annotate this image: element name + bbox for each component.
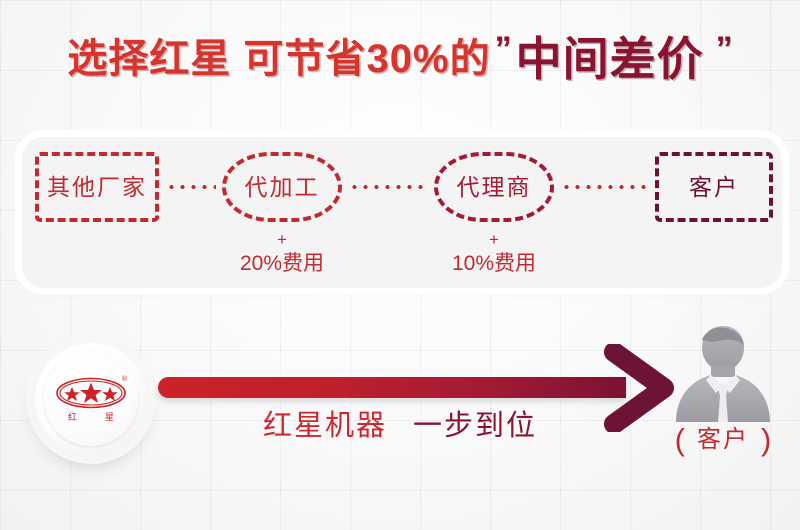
headline: 选择红星 可节省30%的 ” 中间差价 ” (0, 28, 800, 90)
headline-part1: 选择红星 可节省30%的 (67, 39, 490, 79)
flow-connector-dots-1 (166, 185, 216, 189)
flow-connector-dots-3 (561, 185, 648, 189)
fee-amount: 20%费用 (202, 251, 362, 277)
three-stars-oval-icon (55, 376, 127, 410)
flow-node-label: 代加工 (245, 176, 320, 199)
hongxing-logo-badge: ® 红 星 (35, 343, 147, 455)
headline-part2: 中间差价 (516, 36, 704, 82)
flow-node-label: 代理商 (457, 176, 532, 199)
bottom-slogan: 红星机器 一步到位 (200, 412, 600, 441)
arrow-shaft (158, 377, 626, 398)
quote-close-mark: ” (716, 32, 733, 66)
flow-node-customer: 客户 (655, 152, 773, 222)
fee-plus-sign: + (202, 229, 362, 250)
logo-char-xing: 星 (105, 413, 114, 422)
registered-trademark-icon: ® (122, 376, 127, 383)
fee-amount: 10%费用 (414, 251, 574, 277)
customer-tag: ( 客户 ) (640, 424, 800, 455)
flow-connector-dots-2 (349, 185, 427, 189)
poster-canvas: 选择红星 可节省30%的 ” 中间差价 ” 其他厂家 代加工 + 20%费用 代… (0, 0, 800, 530)
customer-tag-label: 客户 (697, 428, 749, 452)
bracket-right-icon: ) (761, 424, 771, 455)
flow-node-label: 客户 (689, 176, 739, 199)
arrow-head-icon (604, 344, 674, 432)
flow-node-agent: 代理商 (434, 152, 554, 222)
flow-node-processing: 代加工 (222, 152, 342, 222)
fee-agent: + 10%费用 (414, 229, 574, 278)
logo-char-hong: 红 (68, 413, 77, 422)
slogan-brand: 红星机器 (263, 410, 387, 442)
slogan-tagline: 一步到位 (413, 410, 537, 442)
bracket-left-icon: ( (675, 424, 685, 455)
logo-inner-disc: ® 红 星 (44, 352, 138, 446)
flow-node-other-factory: 其他厂家 (35, 152, 159, 222)
logo-chinese-name: 红 星 (68, 413, 114, 422)
flow-panel: 其他厂家 代加工 + 20%费用 代理商 + 10%费用 客户 (22, 137, 782, 288)
customer-person-icon (666, 318, 780, 428)
fee-processing: + 20%费用 (202, 229, 362, 278)
quote-open-mark: ” (495, 32, 512, 66)
fee-plus-sign: + (414, 229, 574, 250)
flow-node-label: 其他厂家 (47, 176, 147, 199)
